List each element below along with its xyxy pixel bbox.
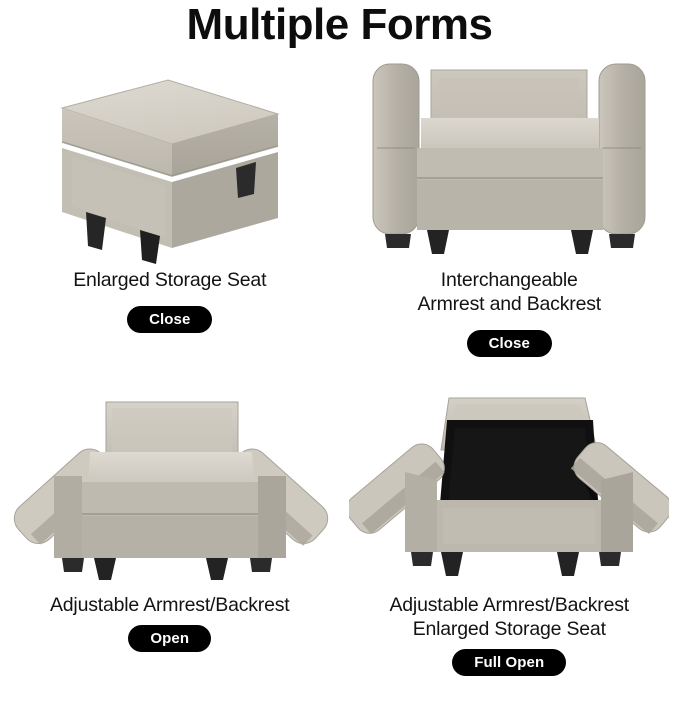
chair-leg-back-left [62,558,84,572]
status-badge-open: Open [128,625,211,652]
product-caption: Adjustable Armrest/Backrest Enlarged Sto… [389,593,629,641]
chair-leg-front-right [557,552,579,576]
armchair-arms-open-illustration [10,394,330,589]
storage-ottoman-illustration [20,52,320,264]
armrest-left [373,64,419,234]
chair-leg-back-right [609,234,635,248]
chair-leg-back-right [599,552,621,566]
status-badge-full-open: Full Open [452,649,566,676]
product-card-adjustable-armrest-backrest-storage: Adjustable Armrest/Backrest Enlarged Sto… [340,394,679,702]
chair-leg-front-left [441,552,463,576]
chair-leg-front-right [206,558,228,580]
ottoman-leg-back-right [236,162,256,198]
caption-line: Armrest and Backrest [418,292,601,316]
armchair-upright-illustration [359,52,659,264]
chair-leg-back-left [411,552,433,566]
chair-leg-front-left [94,558,116,580]
page-title: Multiple Forms [0,0,679,52]
status-badge-close: Close [467,330,552,357]
chair-leg-back-left [385,234,411,248]
ottoman-leg-front-left [86,212,106,250]
caption-line: Adjustable Armrest/Backrest [389,593,629,617]
ottoman-leg-front-right [140,230,160,264]
caption-line: Enlarged Storage Seat [73,268,266,292]
product-caption: Adjustable Armrest/Backrest [50,593,290,617]
caption-line: Enlarged Storage Seat [389,617,629,641]
caption-line: Interchangeable [418,268,601,292]
chair-leg-front-left [427,230,449,254]
product-image-armchair-arms-open [0,394,340,589]
status-badge-close: Close [127,306,212,333]
product-forms-grid: Enlarged Storage Seat Close [0,52,679,702]
product-card-adjustable-armrest-backrest: Adjustable Armrest/Backrest Open [0,394,340,702]
product-image-storage-ottoman [0,52,340,264]
armrest-right [599,64,645,234]
product-image-armchair-storage-open [340,394,679,589]
caption-line: Adjustable Armrest/Backrest [50,593,290,617]
armchair-storage-open-illustration [349,394,669,589]
product-caption: Enlarged Storage Seat [73,268,266,292]
product-image-armchair-upright [340,52,679,264]
chair-leg-back-right [250,558,272,572]
chair-leg-front-right [571,230,593,254]
product-card-interchangeable-armrest-backrest: Interchangeable Armrest and Backrest Clo… [340,52,679,394]
infographic-page: Multiple Forms [0,0,679,702]
product-caption: Interchangeable Armrest and Backrest [418,268,601,316]
product-card-enlarged-storage-seat: Enlarged Storage Seat Close [0,52,340,394]
